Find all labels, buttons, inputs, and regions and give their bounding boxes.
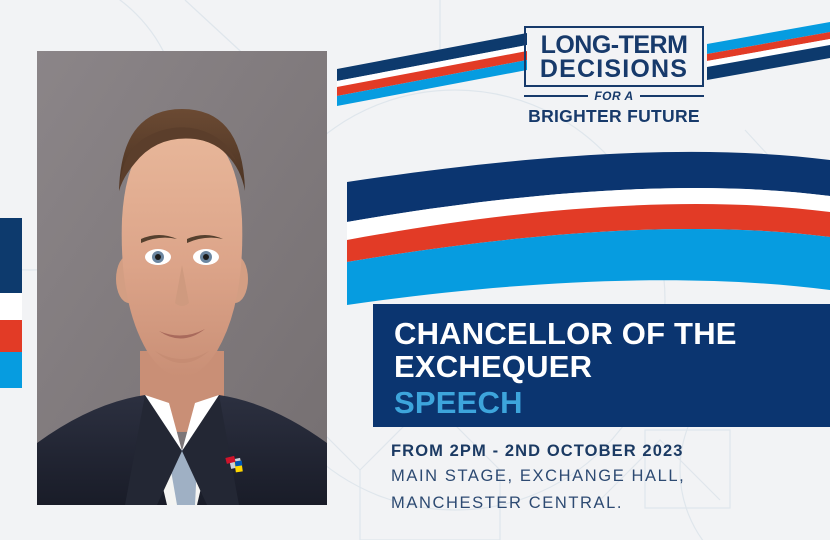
event-title-line1: CHANCELLOR OF THE bbox=[394, 318, 830, 351]
ribbon-main-sweep bbox=[347, 152, 830, 305]
logo-rule-left bbox=[524, 95, 588, 97]
left-edge-stripe-block bbox=[0, 218, 22, 388]
logo-connector-row: FOR A bbox=[524, 89, 704, 103]
edge-stripe-red bbox=[0, 320, 22, 352]
logo-line-long-term: LONG-TERM bbox=[535, 33, 693, 57]
ribbon-top-right bbox=[707, 22, 830, 80]
edge-stripe-light-blue bbox=[0, 352, 22, 388]
edge-stripe-white bbox=[0, 293, 22, 320]
event-venue-line1: MAIN STAGE, EXCHANGE HALL, bbox=[391, 465, 811, 489]
ribbon-top-left bbox=[337, 33, 527, 106]
campaign-logo: LONG-TERM DECISIONS FOR A BRIGHTER FUTUR… bbox=[524, 26, 704, 127]
event-title-line2: EXCHEQUER bbox=[394, 351, 830, 384]
logo-line-decisions: DECISIONS bbox=[535, 57, 693, 82]
event-title-highlight: SPEECH bbox=[394, 386, 830, 421]
event-datetime: FROM 2PM - 2ND OCTOBER 2023 bbox=[391, 440, 811, 462]
chancellor-portrait-photo bbox=[37, 51, 327, 505]
logo-rule-right bbox=[640, 95, 704, 97]
edge-stripe-navy bbox=[0, 218, 22, 293]
logo-connector-text: FOR A bbox=[594, 89, 633, 103]
conference-event-poster: LONG-TERM DECISIONS FOR A BRIGHTER FUTUR… bbox=[0, 0, 830, 540]
event-details: FROM 2PM - 2ND OCTOBER 2023 MAIN STAGE, … bbox=[391, 440, 811, 516]
logo-line-brighter-future: BRIGHTER FUTURE bbox=[524, 106, 704, 127]
logo-outline-box: LONG-TERM DECISIONS bbox=[524, 26, 704, 87]
event-venue-line2: MANCHESTER CENTRAL. bbox=[391, 492, 811, 516]
event-title-block: CHANCELLOR OF THE EXCHEQUER SPEECH bbox=[373, 304, 830, 427]
